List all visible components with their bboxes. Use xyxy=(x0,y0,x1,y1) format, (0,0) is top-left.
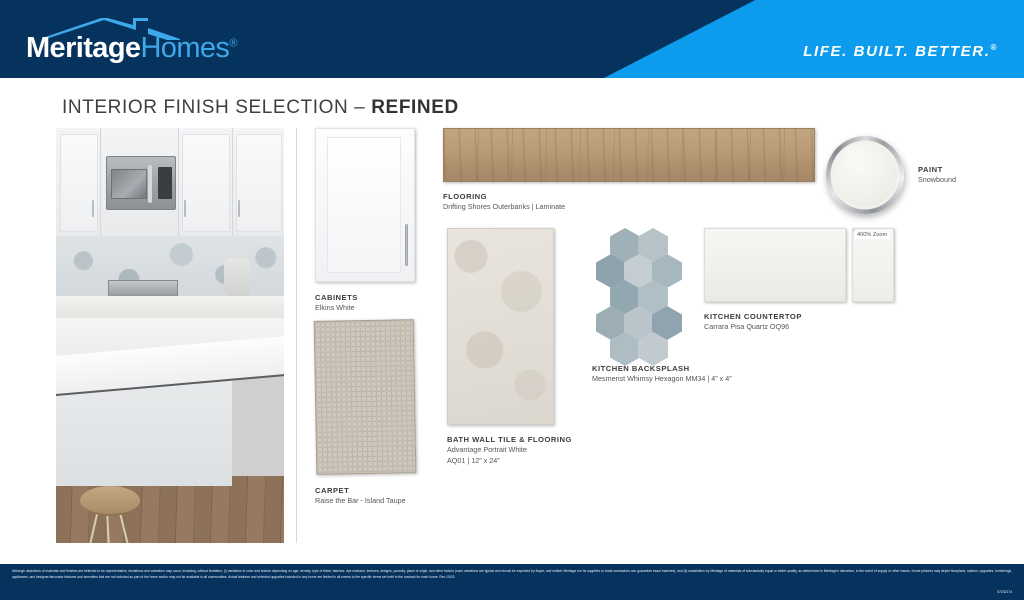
tagline-trademark: ® xyxy=(991,43,999,52)
header-diagonal-accent xyxy=(604,0,1024,78)
cabinet-door-panel xyxy=(327,137,401,273)
carpet-label: CARPET xyxy=(315,485,415,496)
cabinets-label: CABINETS xyxy=(315,292,415,303)
photo-cabinet-pull xyxy=(92,200,94,217)
interior-finish-selection-board: MeritageHomes® LIFE. BUILT. BETTER.® INT… xyxy=(0,0,1024,600)
cabinets-product: Elkins White xyxy=(315,303,415,314)
carpet-swatch xyxy=(314,319,417,475)
bath-tile-spec: AQ01 | 12” x 24” xyxy=(447,456,572,467)
paint-selection: PAINT Snowbound xyxy=(826,136,956,214)
photo-cabinet-pull xyxy=(184,200,186,217)
page-title: INTERIOR FINISH SELECTION – REFINED xyxy=(62,97,459,119)
bath-tile-selection: BATH WALL TILE & FLOORING Advantage Port… xyxy=(447,228,572,467)
carpet-product: Raise the Bar - Island Taupe xyxy=(315,496,415,507)
photo-cabinet-pull xyxy=(238,200,240,217)
logo-wordmark: MeritageHomes® xyxy=(26,34,237,63)
photo-microwave-handle xyxy=(148,165,152,203)
paint-color-fill xyxy=(833,143,897,207)
document-code: 87232174 xyxy=(997,590,1012,594)
meritage-homes-logo: MeritageHomes® xyxy=(26,18,256,66)
logo-trademark: ® xyxy=(229,37,237,49)
photo-cabinet-seam xyxy=(100,128,101,236)
kitchen-photo xyxy=(56,128,284,543)
photo-microwave xyxy=(106,156,176,210)
legal-disclaimer: Although depictions of materials and fin… xyxy=(12,569,1012,580)
page-title-emphasis: REFINED xyxy=(371,97,459,118)
countertop-slab-swatch xyxy=(704,228,846,302)
logo-meritage-text: Meritage xyxy=(26,32,140,64)
cabinet-pull-icon xyxy=(405,224,408,266)
photo-stool-seat xyxy=(80,486,140,516)
photo-cabinet-door xyxy=(60,134,98,232)
logo-homes-text: Homes xyxy=(140,32,229,64)
vertical-divider xyxy=(296,128,297,543)
countertop-selection: 400% Zoom KITCHEN COUNTERTOP Carrara Pis… xyxy=(704,228,894,333)
flooring-plank-swatch xyxy=(443,128,815,182)
cabinets-selection: CABINETS Elkins White xyxy=(315,128,415,314)
bath-tile-swatch xyxy=(447,228,554,425)
countertop-zoom-swatch: 400% Zoom xyxy=(852,228,894,302)
flooring-selection: FLOORING Drifting Shores Outerbanks | La… xyxy=(443,128,815,213)
countertop-label: KITCHEN COUNTERTOP xyxy=(704,311,894,322)
page-footer: Although depictions of materials and fin… xyxy=(0,564,1024,600)
photo-cabinet-seam xyxy=(232,128,233,236)
countertop-zoom-label: 400% Zoom xyxy=(855,231,889,239)
paint-lid-swatch xyxy=(826,136,904,214)
bath-tile-product: Advantage Portrait White xyxy=(447,445,572,456)
photo-microwave-window xyxy=(111,169,147,199)
cabinet-door-swatch xyxy=(315,128,415,282)
photo-counter xyxy=(56,296,284,319)
photo-cabinet-door xyxy=(236,134,282,232)
bath-tile-label: BATH WALL TILE & FLOORING xyxy=(447,434,572,445)
countertop-product: Carrara Pisa Quartz OQ96 xyxy=(704,322,894,333)
page-header: MeritageHomes® LIFE. BUILT. BETTER.® xyxy=(0,0,1024,78)
photo-microwave-controls xyxy=(158,167,172,199)
carpet-selection: CARPET Raise the Bar - Island Taupe xyxy=(315,320,415,507)
backsplash-hex-swatch xyxy=(592,228,688,356)
photo-cabinet-door xyxy=(182,134,230,232)
flooring-label: FLOORING xyxy=(443,191,815,202)
paint-product: Snowbound xyxy=(918,175,956,186)
brand-tagline: LIFE. BUILT. BETTER.® xyxy=(803,43,998,60)
paint-label: PAINT xyxy=(918,164,956,175)
photo-cabinet-seam xyxy=(178,128,179,236)
photo-vase xyxy=(224,258,250,298)
backsplash-label: KITCHEN BACKSPLASH xyxy=(592,363,732,374)
tagline-text: LIFE. BUILT. BETTER. xyxy=(803,43,990,60)
backsplash-product: Mesmerist Whimsy Hexagon MM34 | 4” x 4” xyxy=(592,374,732,385)
flooring-product: Drifting Shores Outerbanks | Laminate xyxy=(443,202,815,213)
page-title-prefix: INTERIOR FINISH SELECTION – xyxy=(62,97,371,118)
